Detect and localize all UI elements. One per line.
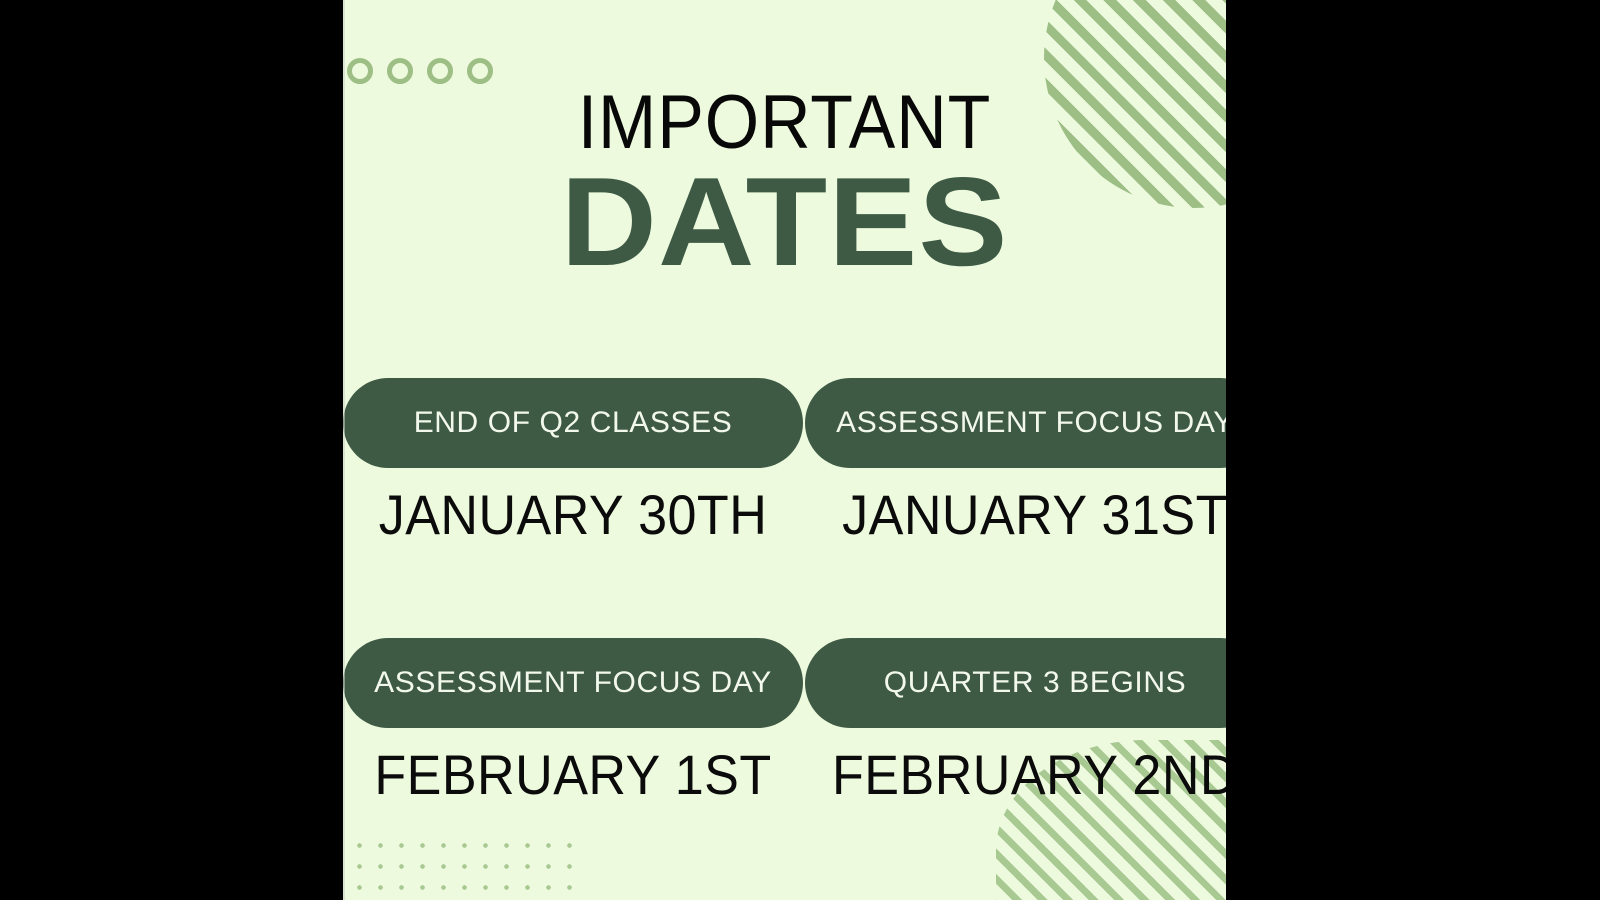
important-dates-poster: IMPORTANT DATES END OF Q2 CLASSES JANUAR… [343,0,1226,900]
circle-outline-icon [467,58,493,84]
event-card: QUARTER 3 BEGINS FEBRUARY 2ND [805,638,1226,807]
event-date: JANUARY 30TH [359,482,787,547]
event-label-badge: ASSESSMENT FOCUS DAY [805,378,1226,468]
event-label-badge: END OF Q2 CLASSES [343,378,803,468]
event-label-badge: QUARTER 3 BEGINS [805,638,1226,728]
event-grid: END OF Q2 CLASSES JANUARY 30TH ASSESSMEN… [343,378,1226,898]
circle-outline-icon [427,58,453,84]
event-label: ASSESSMENT FOCUS DAY [374,666,772,700]
event-date: JANUARY 31ST [821,482,1226,547]
event-row: END OF Q2 CLASSES JANUARY 30TH ASSESSMEN… [343,378,1226,638]
event-label: END OF Q2 CLASSES [414,406,733,440]
event-date: FEBRUARY 1ST [359,742,787,807]
event-date: FEBRUARY 2ND [821,742,1226,807]
event-card: END OF Q2 CLASSES JANUARY 30TH [343,378,803,547]
screenshot-canvas: IMPORTANT DATES END OF Q2 CLASSES JANUAR… [0,0,1600,900]
letterbox-bar-left [0,0,343,900]
event-card: ASSESSMENT FOCUS DAY JANUARY 31ST [805,378,1226,547]
title-line-important: IMPORTANT [378,88,1190,158]
event-card: ASSESSMENT FOCUS DAY FEBRUARY 1ST [343,638,803,807]
page-title: IMPORTANT DATES [343,88,1226,280]
circle-outline-icon [387,58,413,84]
ring-decoration-group [347,58,493,84]
title-line-dates: DATES [343,164,1226,280]
circle-outline-icon [347,58,373,84]
letterbox-bar-right [1226,0,1600,900]
event-label: QUARTER 3 BEGINS [884,666,1186,700]
event-label: ASSESSMENT FOCUS DAY [836,406,1226,440]
event-row: ASSESSMENT FOCUS DAY FEBRUARY 1ST QUARTE… [343,638,1226,898]
event-label-badge: ASSESSMENT FOCUS DAY [343,638,803,728]
